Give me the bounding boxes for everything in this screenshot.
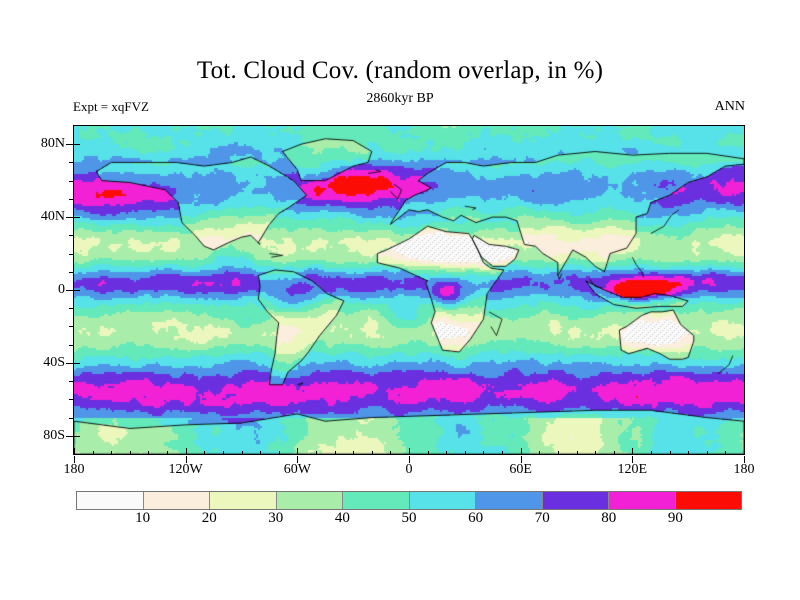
x-tick	[632, 448, 633, 454]
x-tick-label: 180	[64, 462, 85, 478]
x-minor-tick	[707, 451, 708, 455]
x-minor-tick	[335, 451, 336, 455]
colorbar-tick-label: 60	[468, 510, 483, 527]
experiment-label: Expt = xqFVZ	[73, 99, 149, 115]
x-minor-tick	[725, 451, 726, 455]
y-tick-label: 0	[5, 282, 65, 298]
x-minor-tick	[279, 451, 280, 455]
x-tick-label: 180	[734, 462, 755, 478]
x-tick-label: 120W	[169, 462, 203, 478]
y-tick	[74, 144, 80, 145]
y-minor-tick	[69, 254, 73, 255]
x-minor-tick	[502, 451, 503, 455]
map-plot-area	[73, 125, 745, 455]
x-tick	[409, 448, 410, 454]
x-tick	[521, 448, 522, 454]
y-minor-tick	[69, 235, 73, 236]
cloud-cover-map	[74, 126, 744, 454]
x-minor-tick	[577, 451, 578, 455]
y-tick	[66, 363, 73, 364]
colorbar-band	[476, 492, 543, 509]
y-minor-tick	[69, 162, 73, 163]
colorbar-bands	[76, 491, 742, 510]
colorbar-tick-label: 30	[268, 510, 283, 527]
colorbar-band	[410, 492, 477, 509]
x-tick	[186, 448, 187, 454]
x-tick	[297, 448, 298, 454]
x-minor-tick	[372, 451, 373, 455]
y-tick	[66, 144, 73, 145]
x-minor-tick	[260, 451, 261, 455]
colorbar-band	[343, 492, 410, 509]
x-minor-tick	[316, 451, 317, 455]
x-tick-label: 60W	[284, 462, 311, 478]
x-minor-tick	[651, 451, 652, 455]
x-minor-tick	[670, 451, 671, 455]
y-tick	[66, 436, 73, 437]
colorbar-band	[77, 492, 144, 509]
x-minor-tick	[595, 451, 596, 455]
x-minor-tick	[204, 451, 205, 455]
x-tick-label: 0	[406, 462, 413, 478]
y-tick	[74, 217, 80, 218]
colorbar-tick-label: 90	[668, 510, 683, 527]
y-minor-tick	[69, 418, 73, 419]
x-minor-tick	[93, 451, 94, 455]
colorbar-tick-label: 10	[135, 510, 150, 527]
y-minor-tick	[69, 272, 73, 273]
y-minor-tick	[69, 308, 73, 309]
colorbar-band	[543, 492, 610, 509]
x-minor-tick	[130, 451, 131, 455]
x-minor-tick	[148, 451, 149, 455]
y-tick	[66, 290, 73, 291]
x-minor-tick	[428, 451, 429, 455]
colorbar-tick-label: 40	[335, 510, 350, 527]
page-title: Tot. Cloud Cov. (random overlap, in %)	[0, 57, 800, 85]
y-minor-tick	[69, 345, 73, 346]
x-minor-tick	[242, 451, 243, 455]
y-minor-tick	[69, 199, 73, 200]
colorbar-band	[609, 492, 676, 509]
colorbar-tick-label: 20	[202, 510, 217, 527]
y-minor-tick	[69, 381, 73, 382]
y-tick-label: 80S	[5, 428, 65, 444]
x-minor-tick	[353, 451, 354, 455]
x-tick-label: 60E	[509, 462, 532, 478]
y-tick-label: 80N	[5, 136, 65, 152]
colorbar-tick-label: 50	[402, 510, 417, 527]
season-label: ANN	[715, 99, 745, 115]
colorbar-band	[277, 492, 344, 509]
x-minor-tick	[614, 451, 615, 455]
y-tick	[74, 290, 80, 291]
x-minor-tick	[446, 451, 447, 455]
x-minor-tick	[483, 451, 484, 455]
y-minor-tick	[69, 326, 73, 327]
x-minor-tick	[539, 451, 540, 455]
x-minor-tick	[558, 451, 559, 455]
x-minor-tick	[223, 451, 224, 455]
colorbar-band	[676, 492, 742, 509]
y-tick	[74, 436, 80, 437]
y-tick-label: 40N	[5, 209, 65, 225]
y-minor-tick	[69, 399, 73, 400]
x-tick	[744, 448, 745, 454]
x-tick	[74, 448, 75, 454]
y-tick	[74, 363, 80, 364]
y-tick-label: 40S	[5, 355, 65, 371]
colorbar-tick-label: 70	[535, 510, 550, 527]
x-tick-label: 120E	[618, 462, 648, 478]
cloud-cover-figure: Tot. Cloud Cov. (random overlap, in %) 2…	[0, 0, 800, 600]
x-minor-tick	[390, 451, 391, 455]
x-minor-tick	[688, 451, 689, 455]
y-minor-tick	[69, 181, 73, 182]
colorbar-band	[210, 492, 277, 509]
x-minor-tick	[465, 451, 466, 455]
colorbar-tick-label: 80	[601, 510, 616, 527]
x-minor-tick	[167, 451, 168, 455]
colorbar-band	[144, 492, 211, 509]
y-tick	[66, 217, 73, 218]
x-minor-tick	[111, 451, 112, 455]
colorbar	[76, 491, 742, 510]
